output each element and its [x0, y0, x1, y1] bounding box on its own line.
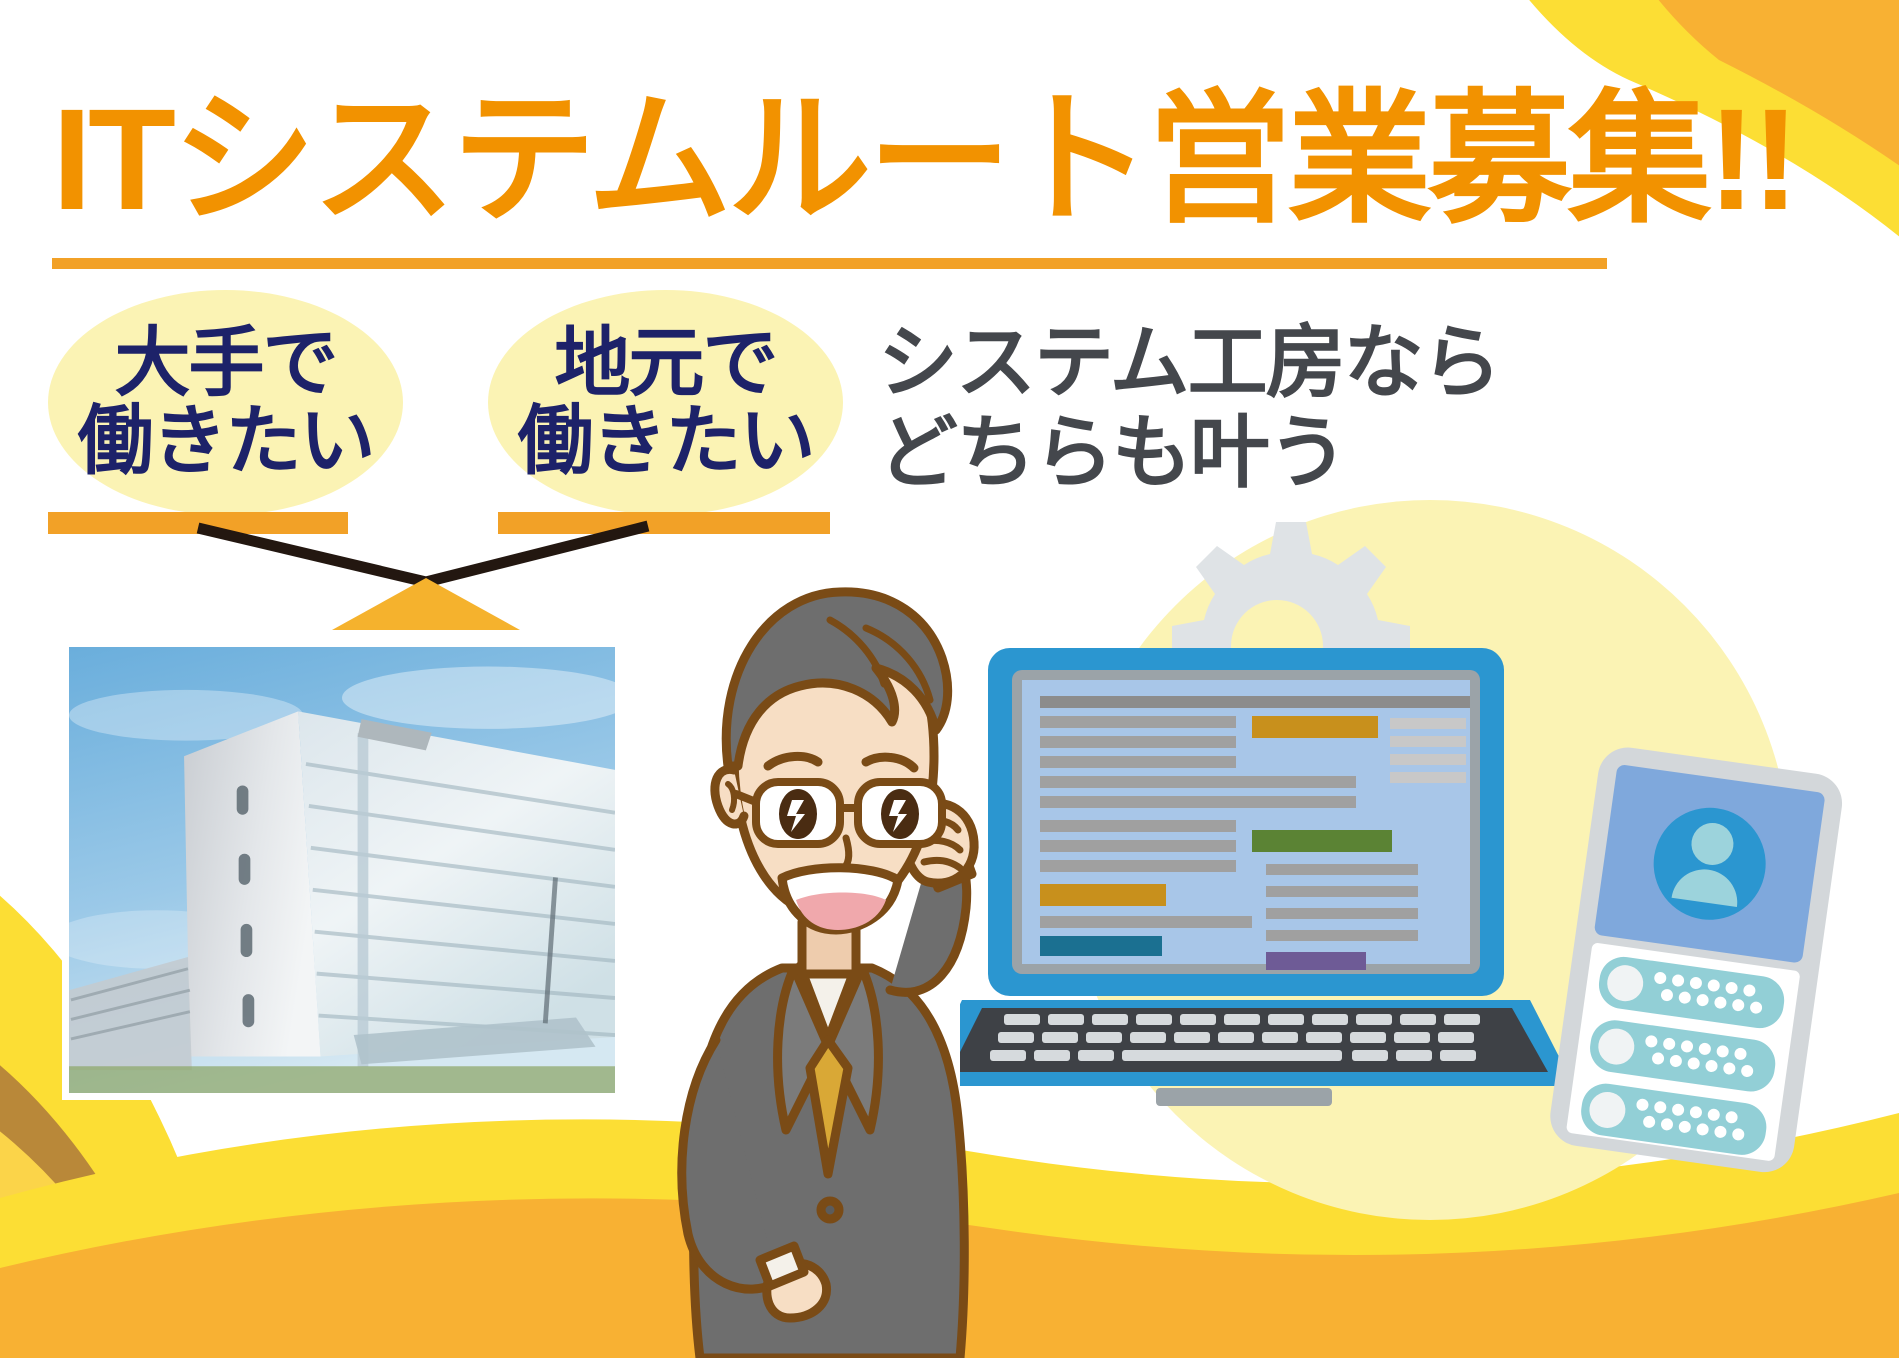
devices-illustration — [960, 500, 1899, 1358]
bubble-local-area-bar — [498, 512, 830, 534]
bubble-large-company-bar — [48, 512, 348, 534]
bubble-local-area-label: 地元で 働きたい — [518, 325, 814, 480]
server-units — [1578, 954, 1787, 1158]
title-underline — [52, 258, 1607, 269]
page-title: ITシステムルート営業募集!! — [52, 88, 1852, 232]
bubble-large-company: 大手で 働きたい — [48, 290, 403, 515]
converging-arrow — [190, 520, 650, 630]
office-building-photo-image — [69, 647, 615, 1096]
office-building-photo — [62, 640, 622, 1100]
businessman-illustration — [660, 570, 1080, 1358]
poster-root: ITシステムルート営業募集!! 大手で 働きたい 地元で 働きたい システム工房… — [0, 0, 1899, 1358]
tagline: システム工房なら どちらも叶う — [878, 318, 1698, 497]
bubble-large-company-label: 大手で 働きたい — [78, 325, 374, 480]
bubble-local-area: 地元で 働きたい — [488, 290, 843, 515]
